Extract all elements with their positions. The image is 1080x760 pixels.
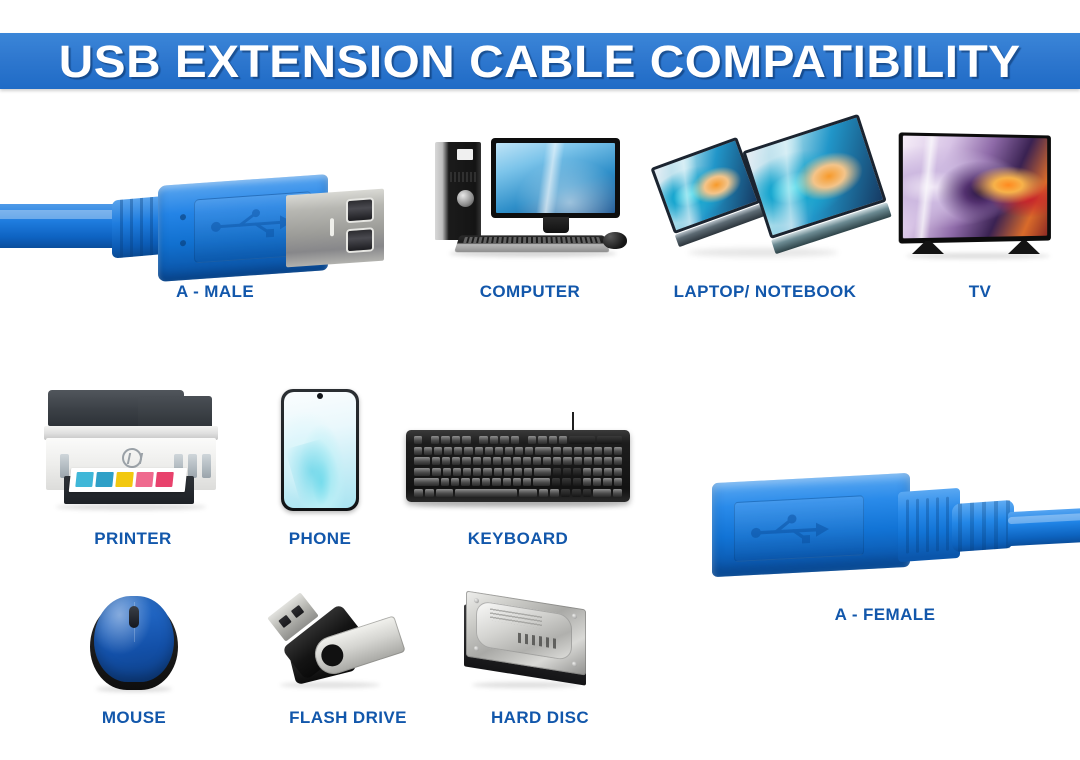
plug-notch	[330, 218, 334, 236]
tv-bezel	[899, 132, 1051, 243]
plug-contact	[291, 605, 304, 618]
drop-shadow	[472, 682, 580, 688]
phone-screen	[284, 392, 356, 508]
computer-monitor	[491, 138, 620, 218]
usb-a-male-connector-icon	[0, 168, 385, 278]
monitor-stand	[543, 217, 569, 233]
strain-relief	[952, 500, 1014, 552]
label-computer: COMPUTER	[430, 282, 630, 302]
label-laptop-notebook: LAPTOP/ NOTEBOOK	[640, 282, 890, 302]
keyboard-icon	[406, 412, 630, 512]
monitor-screen	[496, 143, 615, 213]
hood-dot	[180, 214, 186, 220]
label-hard-disc: HARD DISC	[450, 708, 630, 728]
label-printer: PRINTER	[48, 529, 218, 549]
cable-segment	[0, 204, 122, 248]
front-camera-icon	[317, 393, 323, 399]
tower-vent	[450, 172, 476, 182]
label-keyboard: KEYBOARD	[406, 529, 630, 549]
tv-screen	[903, 136, 1047, 239]
page-title: USB EXTENSION CABLE COMPATIBILITY	[59, 39, 1021, 84]
drop-shadow	[280, 682, 380, 688]
keyboard-row	[414, 478, 622, 486]
label-phone: PHONE	[240, 529, 400, 549]
usb-metal-plug	[286, 189, 384, 268]
desktop-keyboard	[454, 235, 610, 252]
usb-trident-logo-icon	[210, 204, 294, 244]
printer-icon	[42, 390, 222, 512]
brand-logo-icon	[122, 448, 142, 468]
desktop-mouse	[603, 232, 627, 249]
cable-segment	[1008, 508, 1080, 546]
label-a-female: A - FEMALE	[760, 605, 1010, 625]
label-flash-drive: FLASH DRIVE	[248, 708, 448, 728]
computer-tower	[435, 142, 481, 240]
phone-frame	[281, 389, 359, 511]
computer-mouse-icon	[88, 594, 180, 692]
connector-shell	[712, 473, 910, 577]
ink-tank	[202, 454, 211, 478]
drop-shadow	[56, 504, 206, 510]
infographic-canvas: USB EXTENSION CABLE COMPATIBILITY	[0, 0, 1080, 760]
printed-page	[69, 468, 188, 492]
plug-contact	[348, 199, 372, 221]
usb-a-female-connector-icon	[712, 470, 1080, 582]
label-mouse: MOUSE	[54, 708, 214, 728]
keyboard-row	[414, 457, 622, 465]
tv-leg	[1008, 241, 1040, 254]
laptop-large	[742, 114, 891, 254]
optical-drive-slot	[457, 149, 473, 160]
hood-dot	[180, 240, 186, 246]
power-button-icon	[457, 190, 474, 207]
television-icon	[900, 134, 1060, 269]
keyboard-row	[414, 468, 622, 476]
usb-flash-drive-icon	[262, 596, 402, 692]
keyboard-row	[414, 447, 622, 455]
drop-shadow	[416, 502, 620, 508]
plug-contact	[348, 229, 372, 251]
mouse-shell	[94, 596, 174, 682]
keyboard-row	[414, 436, 622, 444]
ink-tank	[60, 454, 69, 478]
scroll-wheel-icon	[129, 606, 139, 628]
desktop-computer-icon	[425, 136, 630, 264]
connector-taper	[898, 488, 960, 562]
label-a-male: A - MALE	[110, 282, 320, 302]
header-banner: USB EXTENSION CABLE COMPATIBILITY	[0, 33, 1080, 89]
keyboard-keys	[463, 237, 601, 243]
hard-disk-drive-icon	[462, 598, 592, 692]
laptop-icon	[660, 128, 875, 268]
drop-shadow	[688, 248, 838, 257]
keyboard-row	[414, 489, 622, 497]
ink-tank	[188, 454, 197, 478]
keyboard-body	[406, 430, 630, 502]
usb-trident-logo-icon	[748, 507, 832, 547]
plug-contact	[278, 615, 291, 628]
smartphone-icon	[281, 389, 359, 511]
label-tv: TV	[900, 282, 1060, 302]
